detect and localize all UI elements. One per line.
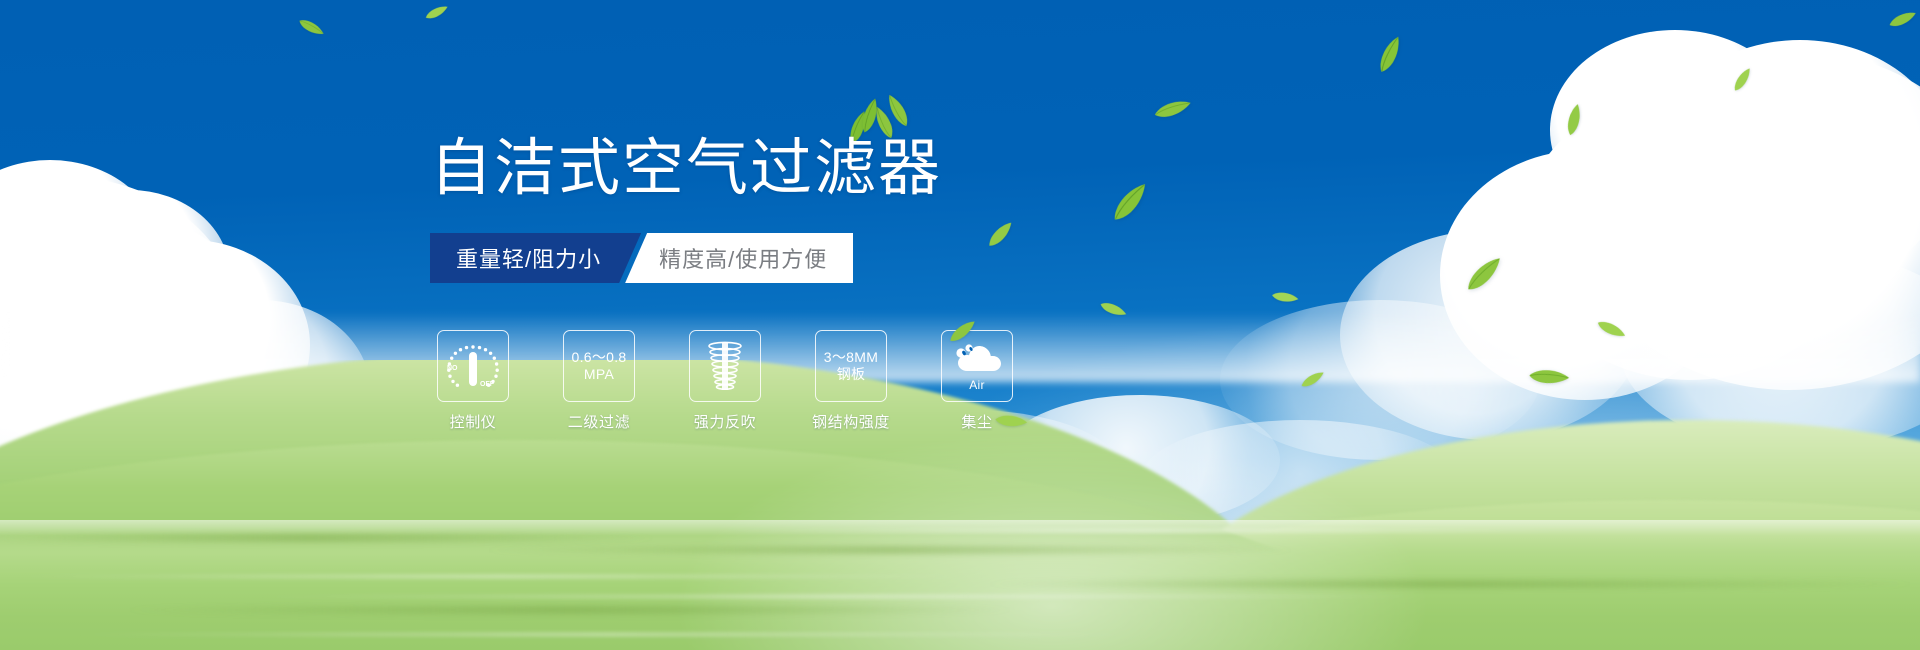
feature-list: NO OFF 控制仪 0.6～0.8 MPA 二级过滤 bbox=[437, 330, 1013, 432]
feature-icon-text-air: Air bbox=[969, 378, 985, 392]
feature-item-filtration[interactable]: 0.6～0.8 MPA 二级过滤 bbox=[563, 330, 635, 432]
subtitle-badge: 重量轻/阻力小 精度高/使用方便 bbox=[430, 233, 853, 283]
feature-item-controller[interactable]: NO OFF 控制仪 bbox=[437, 330, 509, 432]
feature-label: 钢结构强度 bbox=[812, 411, 890, 432]
feature-icon-box: 3～8MM 钢板 bbox=[815, 330, 887, 402]
feature-label: 控制仪 bbox=[450, 411, 497, 432]
gauge-dial-icon: NO OFF bbox=[444, 339, 502, 393]
svg-text:OFF: OFF bbox=[480, 381, 495, 388]
feature-icon-text-line-1: 3～8MM bbox=[824, 349, 878, 366]
feature-label: 集尘 bbox=[961, 411, 992, 432]
feature-item-steel-strength[interactable]: 3～8MM 钢板 钢结构强度 bbox=[815, 330, 887, 432]
feature-icon-text-line-2: MPA bbox=[584, 366, 614, 383]
feature-icon-box: 0.6～0.8 MPA bbox=[563, 330, 635, 402]
feature-item-blowback[interactable]: 强力反吹 bbox=[689, 330, 761, 432]
feature-icon-box bbox=[689, 330, 761, 402]
hero-banner: 自洁式空气过滤器 重量轻/阻力小 精度高/使用方便 bbox=[0, 0, 1920, 650]
feature-icon-box: NO OFF bbox=[437, 330, 509, 402]
banner-content: 自洁式空气过滤器 重量轻/阻力小 精度高/使用方便 bbox=[0, 0, 1920, 650]
leaf-icon bbox=[856, 96, 886, 136]
feature-icon-text-line-1: 0.6～0.8 bbox=[571, 349, 626, 366]
feature-icon-text-line-2: 钢板 bbox=[837, 366, 866, 383]
badge-left-text: 重量轻/阻力小 bbox=[430, 233, 641, 283]
leaf-icon bbox=[885, 90, 914, 130]
page-title: 自洁式空气过滤器 bbox=[430, 138, 942, 200]
badge-right-text: 精度高/使用方便 bbox=[625, 233, 853, 283]
svg-text:NO: NO bbox=[447, 365, 458, 372]
feature-label: 强力反吹 bbox=[694, 411, 756, 432]
coil-blowback-icon bbox=[701, 339, 749, 393]
feature-label: 二级过滤 bbox=[568, 411, 630, 432]
